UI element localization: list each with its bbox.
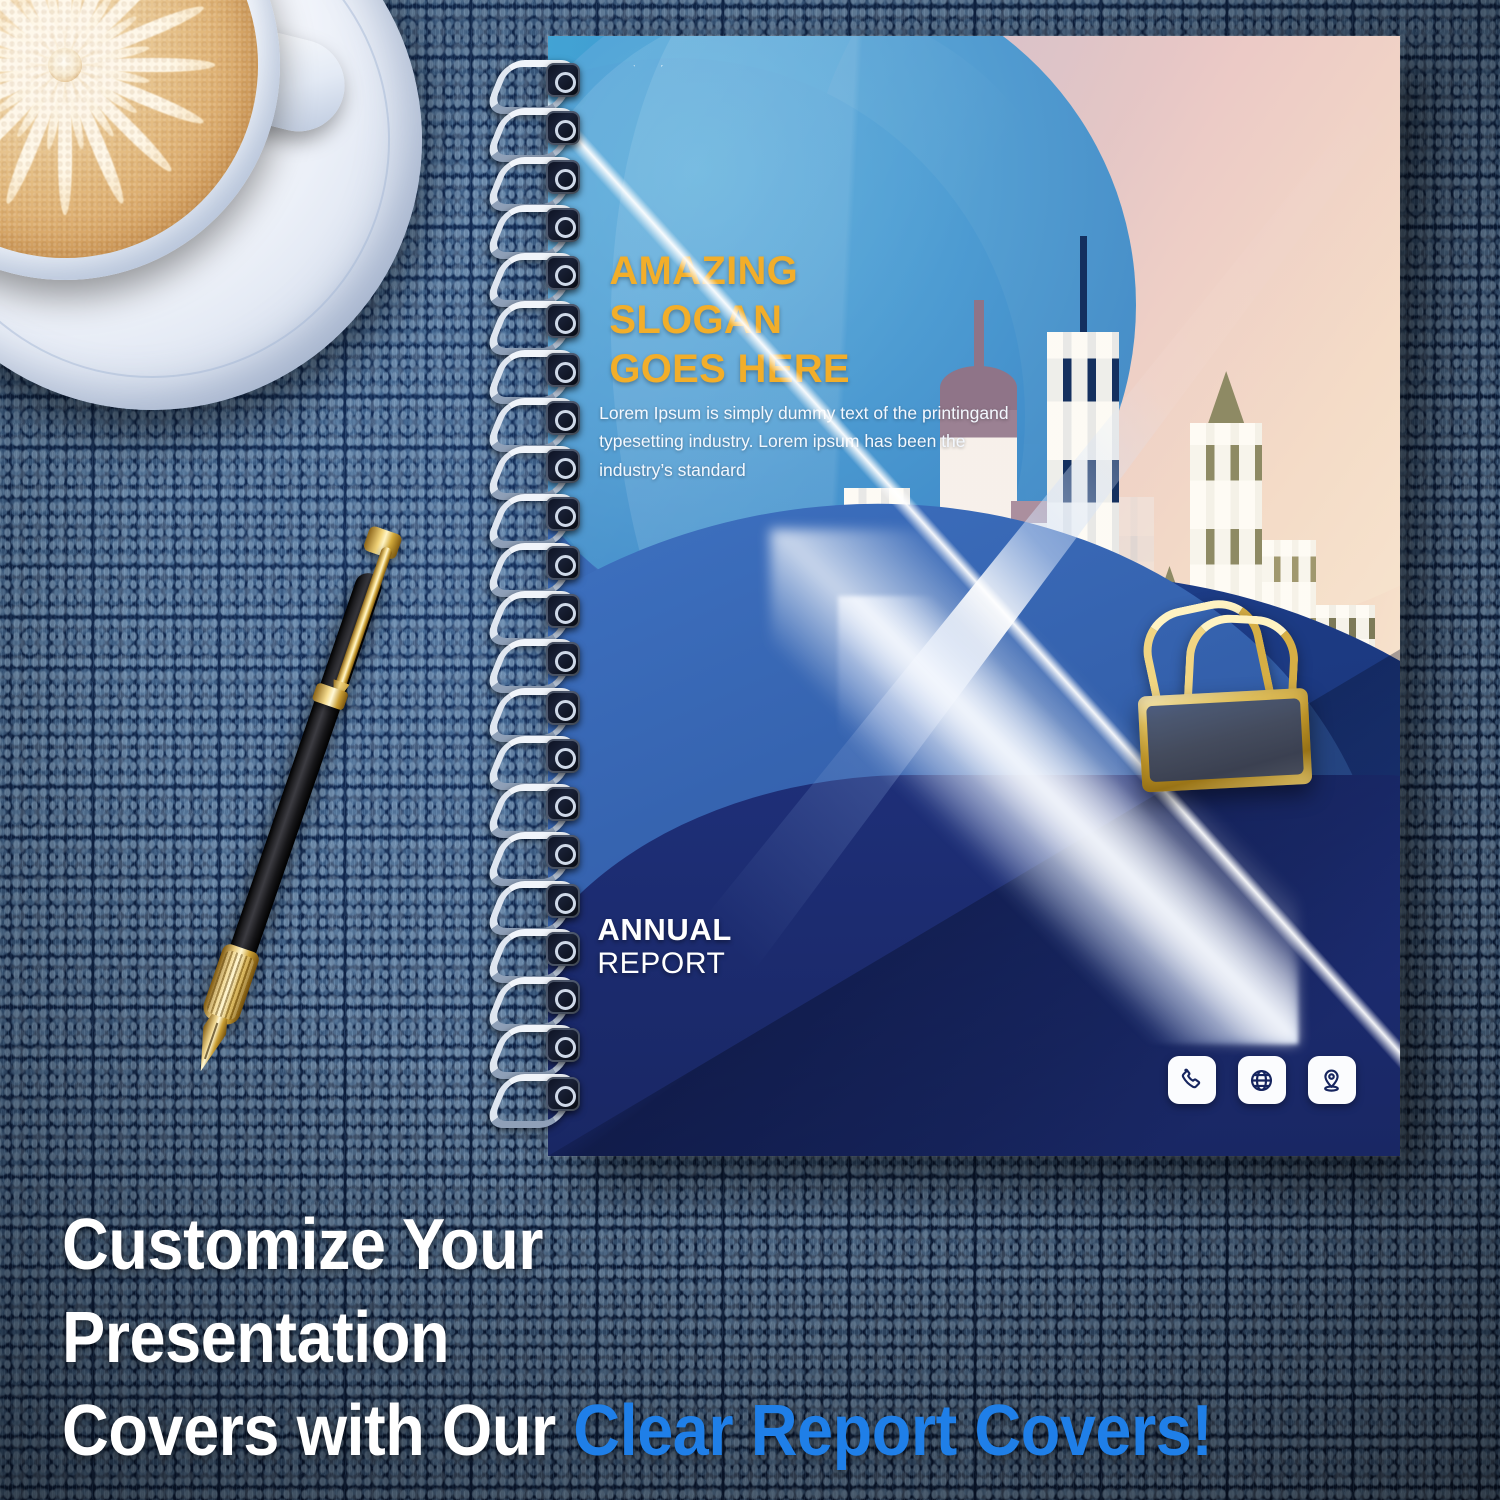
latte-petal [62,1,206,71]
latte-petal-inner [44,64,69,150]
spiral-punch-hole [546,401,580,435]
spiral-punch-hole [546,63,580,97]
spiral-coil [490,686,582,732]
promo-headline-line-2: Presentation [62,1301,1322,1376]
spiral-coil [490,927,582,973]
spiral-punch-hole [546,353,580,387]
promo-headline-line-3: Covers with Our Clear Report Covers! [62,1394,1322,1469]
spiral-punch-hole [546,884,580,918]
spiral-punch-hole [546,497,580,531]
spiral-coil [490,637,582,683]
spiral-coil [490,203,582,249]
spiral-coil [490,830,582,876]
spiral-punch-hole [546,594,580,628]
spiral-coil [490,879,582,925]
latte-petal-inner [64,61,150,86]
latte-petal [62,59,206,129]
latte-petal [1,62,71,206]
scene-root: AMAZING SLOGAN GOES HERE Lorem Ipsum is … [0,0,1500,1500]
latte-art-center [48,48,82,82]
latte-petal-inner [0,44,66,69]
spiral-punch-hole [546,691,580,725]
spiral-coil [490,58,582,104]
latte-petal [59,62,129,206]
spiral-punch-hole [546,160,580,194]
latte-petal [60,0,176,70]
binder-clip[interactable] [1123,591,1334,813]
pen-grip-section [200,942,261,1028]
promo-headline-accent: Clear Report Covers! [573,1391,1212,1471]
spiral-punch-hole [546,642,580,676]
binder-clip-body [1138,688,1313,793]
latte-petal-inner [43,0,69,66]
spiral-punch-hole [546,787,580,821]
spiral-punch-hole [546,980,580,1014]
latte-petal-inner [64,43,150,69]
spiral-coil [490,348,582,394]
promo-headline-line-1: Customize Your [62,1208,1322,1283]
latte-petal-inner [61,0,116,67]
spiral-punch-hole [546,256,580,290]
latte-petal-inner [61,64,87,150]
latte-petal [58,65,72,215]
contact-icon-row [1168,1056,1356,1104]
spiral-punch-hole [546,1028,580,1062]
latte-petal [59,0,129,68]
latte-petal [0,59,68,129]
spiral-coil [490,106,582,152]
spiral-punch-hole [546,1077,580,1111]
spiral-coil [490,492,582,538]
spiral-coil [490,396,582,442]
location-pin-icon[interactable] [1308,1056,1356,1104]
spiral-punch-hole [546,835,580,869]
spiral-punch-hole [546,208,580,242]
latte-petal-inner [0,14,67,69]
latte-petal-inner [61,0,86,66]
latte-petal-inner [0,61,68,117]
spiral-coil [490,541,582,587]
spiral-punch-hole [546,111,580,145]
latte-petal [1,0,71,68]
globe-icon[interactable] [1238,1056,1286,1104]
spiral-binding [490,58,586,1120]
spiral-coil [490,589,582,635]
latte-petal [65,58,215,72]
latte-petal-inner [61,62,117,138]
latte-petal [0,1,68,71]
spiral-coil [490,1072,582,1118]
latte-petal [0,58,65,72]
spiral-coil [490,251,582,297]
spiral-punch-hole [546,449,580,483]
phone-icon[interactable] [1168,1056,1216,1104]
spiral-coil [490,155,582,201]
latte-petal [0,60,70,176]
spiral-punch-hole [546,739,580,773]
spiral-coil [490,1023,582,1069]
promo-headline: Customize Your Presentation Covers with … [62,1208,1322,1487]
latte-petal-inner [62,13,138,69]
spiral-coil [490,782,582,828]
spiral-punch-hole [546,304,580,338]
promo-headline-line-3-plain: Covers with Our [62,1391,573,1471]
spiral-coil [490,299,582,345]
latte-petal [0,0,70,70]
latte-petal [60,60,176,176]
spiral-coil [490,444,582,490]
spiral-punch-hole [546,546,580,580]
latte-petal-inner [14,63,69,140]
spiral-coil [490,734,582,780]
latte-petal-inner [63,61,140,116]
spiral-coil [490,975,582,1021]
spiral-punch-hole [546,932,580,966]
latte-petal-inner [13,0,69,68]
latte-petal [58,0,72,65]
latte-petal-inner [0,61,66,87]
